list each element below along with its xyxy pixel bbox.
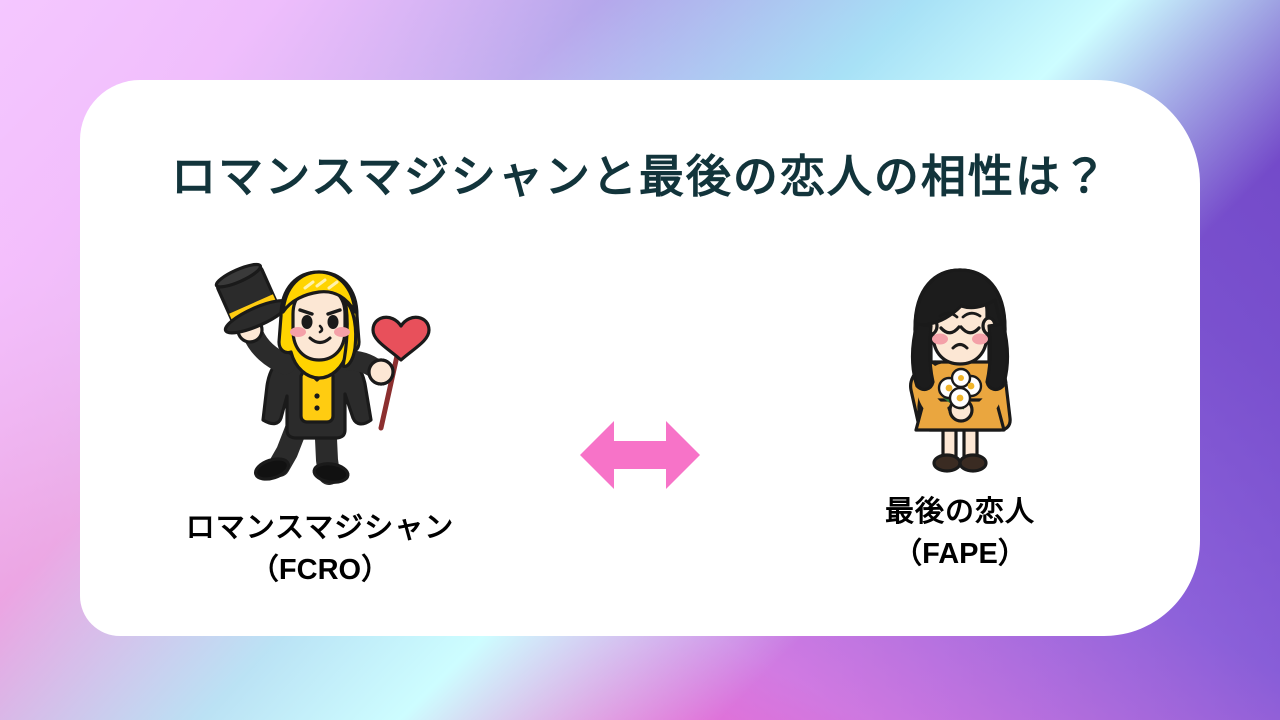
right-character-block: 最後の恋人 （FAPE） [760, 260, 1160, 575]
relationship-arrow-wrap [560, 260, 720, 495]
left-character-block: ロマンスマジシャン （FCRO） [120, 260, 520, 591]
double-arrow-icon [580, 415, 700, 495]
left-character-label: ロマンスマジシャン （FCRO） [186, 507, 455, 591]
page-title: ロマンスマジシャンと最後の恋人の相性は？ [80, 140, 1200, 205]
content-card: ロマンスマジシャンと最後の恋人の相性は？ [80, 80, 1200, 636]
right-character-name: 最後の恋人 [885, 491, 1035, 533]
left-character-code: （FCRO） [186, 549, 455, 591]
right-character-code: （FAPE） [885, 533, 1035, 575]
left-character-name: ロマンスマジシャン [186, 507, 455, 549]
magician-illustration [205, 260, 435, 485]
right-character-label: 最後の恋人 （FAPE） [885, 491, 1035, 575]
sad-woman-illustration [845, 260, 1075, 485]
comparison-row: ロマンスマジシャン （FCRO） [80, 260, 1200, 620]
slide-canvas: ロマンスマジシャンと最後の恋人の相性は？ [0, 0, 1280, 720]
